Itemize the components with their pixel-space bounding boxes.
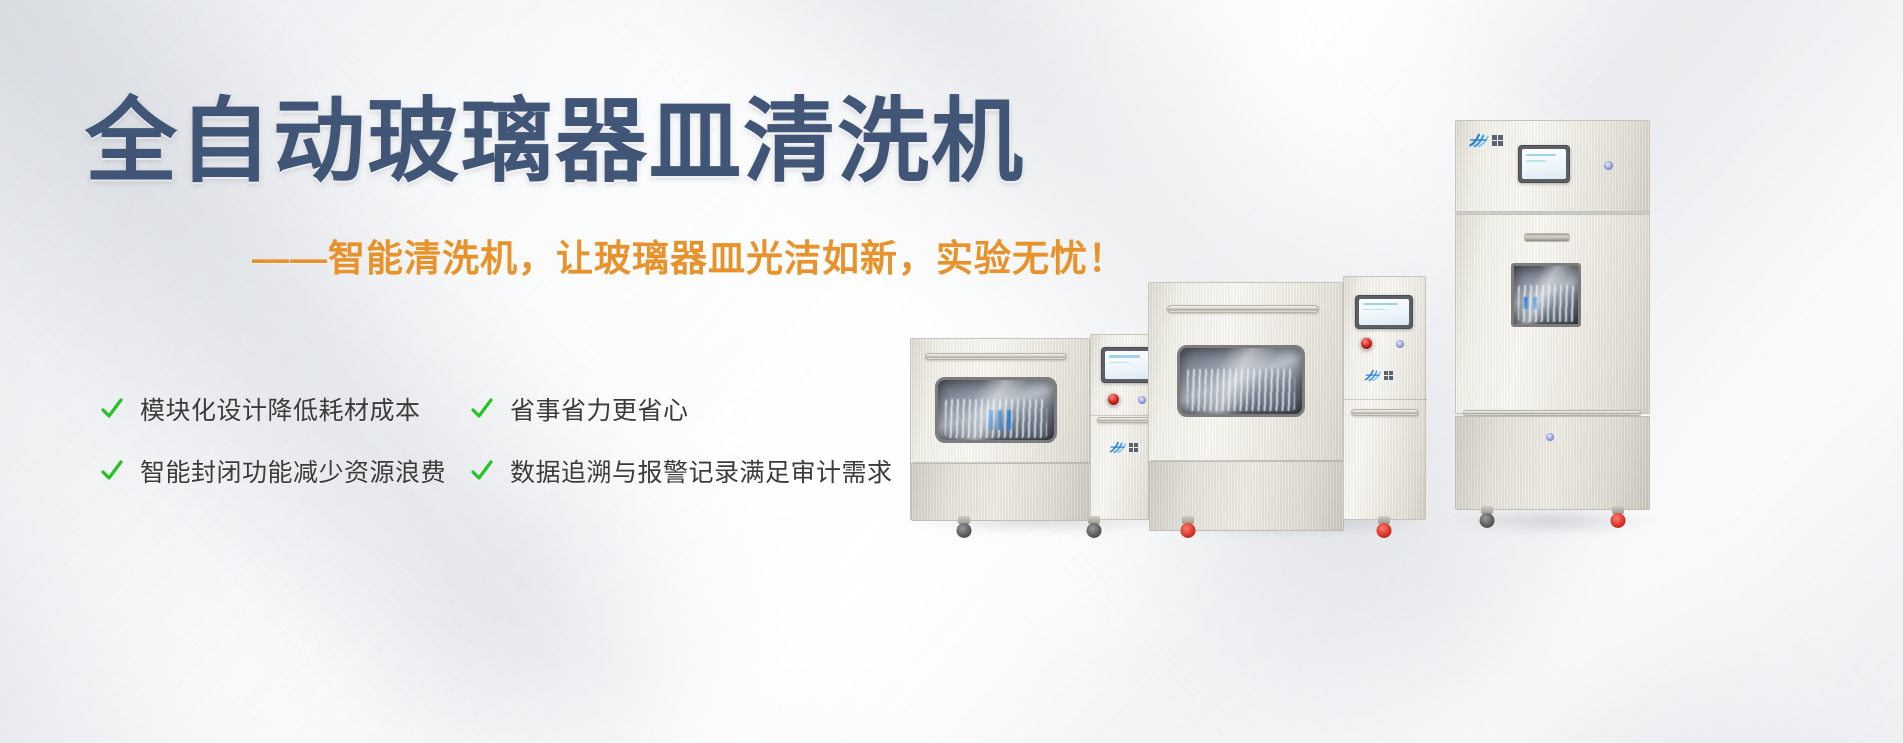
control-column — [1343, 276, 1426, 520]
service-door-handle — [1351, 409, 1419, 416]
check-icon — [470, 397, 494, 421]
emergency-stop-button[interactable] — [1107, 393, 1120, 406]
upper-control-section — [1455, 120, 1650, 212]
feature-list: 模块化设计降低耗材成本 省事省力更省心 智能封闭功能减少资源浪费 — [100, 378, 980, 502]
window-glare — [1180, 348, 1302, 414]
feature-item: 模块化设计降低耗材成本 — [100, 378, 470, 440]
chamber-viewing-window — [1511, 263, 1581, 327]
caster-wheel — [1479, 506, 1495, 528]
hmi-touchscreen[interactable] — [1101, 347, 1154, 383]
panel-seam — [1344, 399, 1427, 400]
base-indicator — [1546, 433, 1554, 441]
chamber-viewing-window — [935, 377, 1057, 443]
brand-logo — [1468, 133, 1503, 148]
feature-label: 智能封闭功能减少资源浪费 — [140, 453, 446, 489]
machine-base-panel — [1455, 416, 1650, 510]
caster-wheel — [1610, 506, 1626, 528]
brand-wordmark — [1129, 443, 1138, 452]
washer-chamber-door — [910, 338, 1090, 520]
brand-logo — [1109, 441, 1138, 454]
brand-logo — [1364, 369, 1393, 382]
feature-label: 模块化设计降低耗材成本 — [140, 391, 421, 427]
lower-access-panel — [911, 463, 1091, 521]
indicator-button[interactable] — [1396, 340, 1404, 348]
washer-chamber-door — [1148, 282, 1343, 520]
window-glare — [1514, 266, 1578, 324]
brand-wordmark — [1384, 371, 1393, 380]
product-hero-banner: 全自动玻璃器皿清洗机 ——智能清洗机，让玻璃器皿光洁如新，实验无忧！ 模块化设计… — [0, 0, 1903, 743]
door-handle — [925, 353, 1067, 360]
check-icon — [470, 459, 494, 483]
product-image-group — [880, 0, 1903, 743]
product-image-freestanding-washer — [1148, 272, 1426, 520]
feature-item: 省事省力更省心 — [470, 378, 890, 440]
indicator-button[interactable] — [1604, 161, 1613, 170]
check-icon — [100, 397, 124, 421]
door-handle — [1167, 305, 1319, 313]
caster-wheel — [1086, 516, 1102, 538]
caster-wheel — [1376, 516, 1392, 538]
feature-item: 数据追溯与报警记录满足审计需求 — [470, 440, 890, 502]
window-glare — [938, 380, 1054, 440]
washer-chamber-door — [1455, 214, 1650, 414]
product-image-tall-column-washer — [1455, 120, 1650, 520]
hmi-screen-content — [1105, 351, 1150, 379]
indicator-button[interactable] — [1138, 396, 1146, 404]
hmi-screen-content — [1359, 299, 1409, 325]
check-icon — [100, 459, 124, 483]
brand-wordmark — [1492, 135, 1503, 146]
feature-label: 数据追溯与报警记录满足审计需求 — [510, 453, 893, 489]
hmi-touchscreen[interactable] — [1518, 145, 1570, 183]
emergency-stop-button[interactable] — [1360, 337, 1373, 350]
feature-item: 智能封闭功能减少资源浪费 — [100, 440, 470, 502]
door-vent — [1524, 233, 1570, 242]
lower-access-panel — [1149, 461, 1344, 531]
product-image-undercounter-washer — [910, 330, 1165, 520]
chamber-viewing-window — [1177, 345, 1305, 417]
hmi-touchscreen[interactable] — [1355, 295, 1413, 329]
caster-wheel — [1180, 516, 1196, 538]
hmi-screen-content — [1522, 149, 1566, 179]
feature-label: 省事省力更省心 — [510, 391, 689, 427]
caster-wheel — [956, 516, 972, 538]
